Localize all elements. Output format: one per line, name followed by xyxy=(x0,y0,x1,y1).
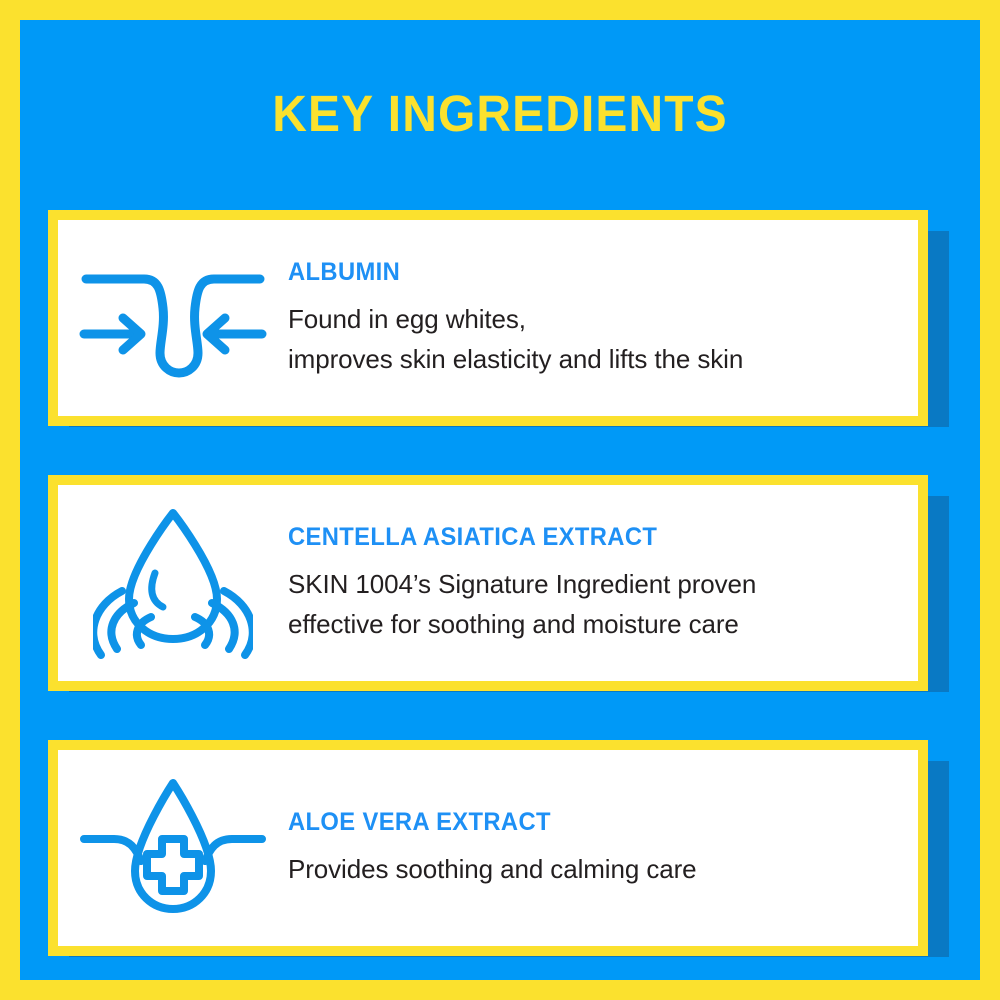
pore-tightening-icon xyxy=(78,256,268,381)
card-body: ALOE VERA EXTRACT Provides soothing and … xyxy=(48,740,928,956)
ingredient-name: ALBUMIN xyxy=(288,258,868,287)
icon-cell xyxy=(58,507,288,659)
card-body: CENTELLA ASIATICA EXTRACT SKIN 1004’s Si… xyxy=(48,475,928,691)
card-body: ALBUMIN Found in egg whites, improves sk… xyxy=(48,210,928,426)
ingredient-card-centella: CENTELLA ASIATICA EXTRACT SKIN 1004’s Si… xyxy=(48,475,928,671)
page-title: KEY INGREDIENTS xyxy=(49,85,951,143)
description-line: SKIN 1004’s Signature Ingredient proven xyxy=(288,564,898,604)
water-droplet-ripple-icon xyxy=(93,507,253,659)
text-cell: ALBUMIN Found in egg whites, improves sk… xyxy=(288,258,918,379)
ingredient-card-aloe-vera: ALOE VERA EXTRACT Provides soothing and … xyxy=(48,740,928,936)
droplet-medical-cross-icon xyxy=(78,777,268,919)
ingredient-card-albumin: ALBUMIN Found in egg whites, improves sk… xyxy=(48,210,928,406)
ingredient-name: CENTELLA ASIATICA EXTRACT xyxy=(288,523,868,552)
ingredient-description: Provides soothing and calming care xyxy=(288,849,898,889)
ingredient-description: Found in egg whites, improves skin elast… xyxy=(288,299,898,379)
ingredient-description: SKIN 1004’s Signature Ingredient proven … xyxy=(288,564,898,644)
text-cell: CENTELLA ASIATICA EXTRACT SKIN 1004’s Si… xyxy=(288,523,918,644)
poster-root: KEY INGREDIENTS xyxy=(0,0,1000,1000)
description-line: Found in egg whites, xyxy=(288,299,898,339)
description-line: improves skin elasticity and lifts the s… xyxy=(288,339,898,379)
description-line: effective for soothing and moisture care xyxy=(288,604,898,644)
blue-panel: KEY INGREDIENTS xyxy=(20,20,980,980)
ingredient-name: ALOE VERA EXTRACT xyxy=(288,808,868,837)
description-line: Provides soothing and calming care xyxy=(288,849,898,889)
icon-cell xyxy=(58,777,288,919)
text-cell: ALOE VERA EXTRACT Provides soothing and … xyxy=(288,808,918,889)
icon-cell xyxy=(58,256,288,381)
